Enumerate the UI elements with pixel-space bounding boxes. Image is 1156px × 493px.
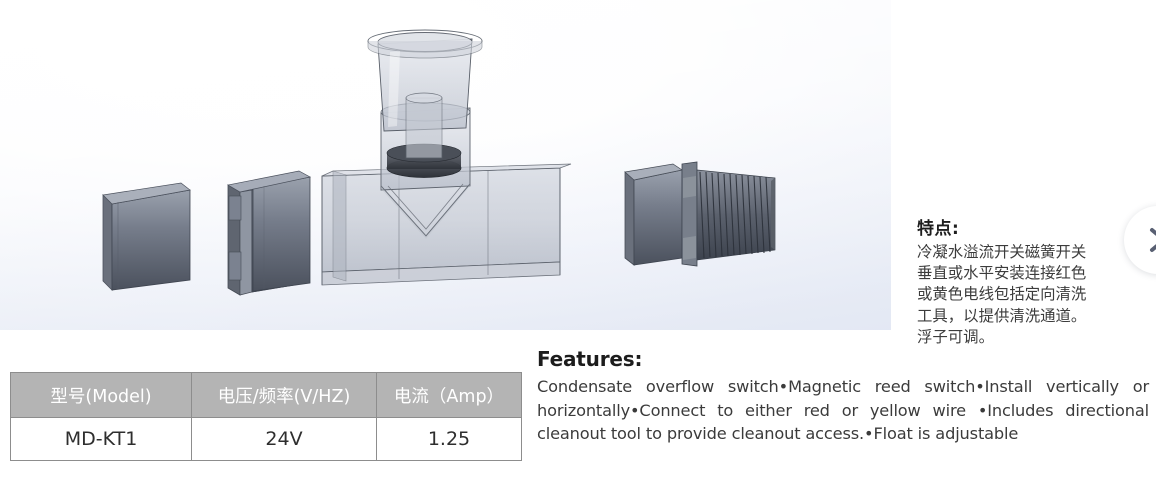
- english-features-heading: Features:: [537, 347, 1149, 372]
- table-header-row: 型号(Model) 电压/频率(V/HZ) 电流（Amp）: [11, 373, 522, 418]
- table-cell-model: MD-KT1: [11, 418, 192, 461]
- specifications-table: 型号(Model) 电压/频率(V/HZ) 电流（Amp） MD-KT1 24V…: [10, 372, 522, 461]
- chinese-features-body: 冷凝水溢流开关磁簧开关 垂直或水平安装连接红色 或黄色电线包括定向清洗 工具，以…: [917, 242, 1149, 348]
- cad-part-tee-body: [322, 103, 571, 285]
- english-features-body: Condensate overflow switch•Magnetic reed…: [537, 375, 1149, 446]
- chinese-features-heading: 特点:: [917, 219, 1149, 240]
- table-header-voltage: 电压/频率(V/HZ): [192, 373, 377, 418]
- spec-table-container: 型号(Model) 电压/频率(V/HZ) 电流（Amp） MD-KT1 24V…: [10, 372, 512, 461]
- cad-part-flanged-sleeve: [228, 171, 310, 295]
- cad-part-end-cap: [103, 183, 190, 290]
- table-cell-voltage: 24V: [192, 418, 377, 461]
- cad-part-threaded-nipple: [625, 162, 775, 266]
- table-header-amp: 电流（Amp）: [377, 373, 522, 418]
- table-cell-amp: 1.25: [377, 418, 522, 461]
- table-row: MD-KT1 24V 1.25: [11, 418, 522, 461]
- table-header-model: 型号(Model): [11, 373, 192, 418]
- cad-exploded-view-illustration: [0, 0, 891, 330]
- product-image[interactable]: [0, 0, 891, 330]
- chevron-right-icon: [1145, 225, 1156, 255]
- chinese-features-block: 特点: 冷凝水溢流开关磁簧开关 垂直或水平安装连接红色 或黄色电线包括定向清洗 …: [917, 219, 1149, 348]
- english-features-block: Features: Condensate overflow switch•Mag…: [537, 347, 1149, 446]
